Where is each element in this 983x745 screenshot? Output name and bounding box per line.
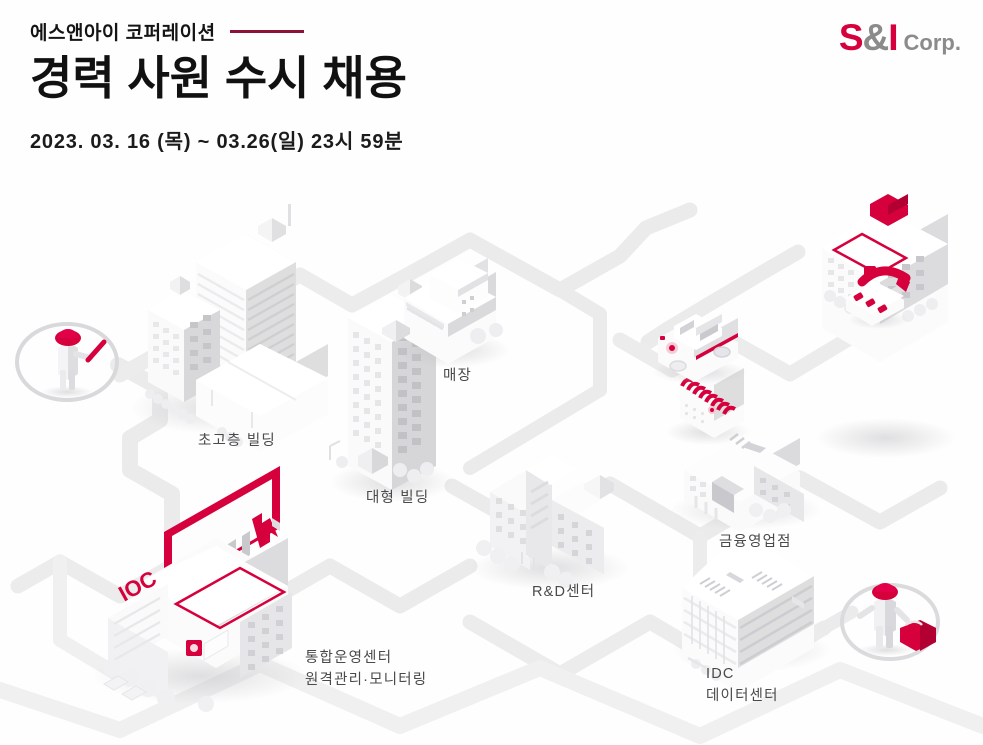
company-subtitle: 에스앤아이 코퍼레이션 [30, 18, 216, 45]
label-rnd-center: R&D센터 [532, 581, 595, 603]
application-period: 2023. 03. 16 (목) ~ 03.26(일) 23시 59분 [30, 125, 650, 154]
financial-branch [670, 434, 822, 532]
logo-letter-i: I [888, 17, 898, 58]
rnd-center [470, 455, 630, 590]
integrated-operation-center: IOC [92, 466, 308, 712]
title-rule-divider [230, 30, 304, 33]
label-skyscraper: 초고층 빌딩 [198, 430, 276, 452]
logo-letter-s: S [839, 17, 863, 58]
label-financial-branch: 금융영업점 [719, 531, 792, 553]
worker-pointer-icon [17, 324, 117, 400]
worker-toolbox-icon [842, 583, 938, 659]
logo-corp-word: Corp. [904, 30, 961, 55]
poster-header: 에스앤아이 코퍼레이션 경력 사원 수시 채용 2023. 03. 16 (목)… [30, 18, 650, 154]
subtitle-row: 에스앤아이 코퍼레이션 [30, 18, 650, 45]
page-title: 경력 사원 수시 채용 [30, 54, 650, 104]
label-integrated-operation-center: 통합운영센터 원격관리·모니터링 [305, 647, 427, 692]
label-large-building: 대형 빌딩 [366, 487, 429, 509]
brand-logo: S&ICorp. [839, 17, 961, 59]
label-store: 매장 [443, 365, 472, 387]
isometric-city-illustration: IOC [0, 170, 983, 745]
recruitment-poster: 에스앤아이 코퍼레이션 경력 사원 수시 채용 2023. 03. 16 (목)… [0, 0, 983, 745]
skyscraper-cluster [130, 204, 328, 452]
label-idc-data-center: IDC 데이터센터 [706, 663, 779, 708]
logo-ampersand: & [863, 17, 889, 58]
